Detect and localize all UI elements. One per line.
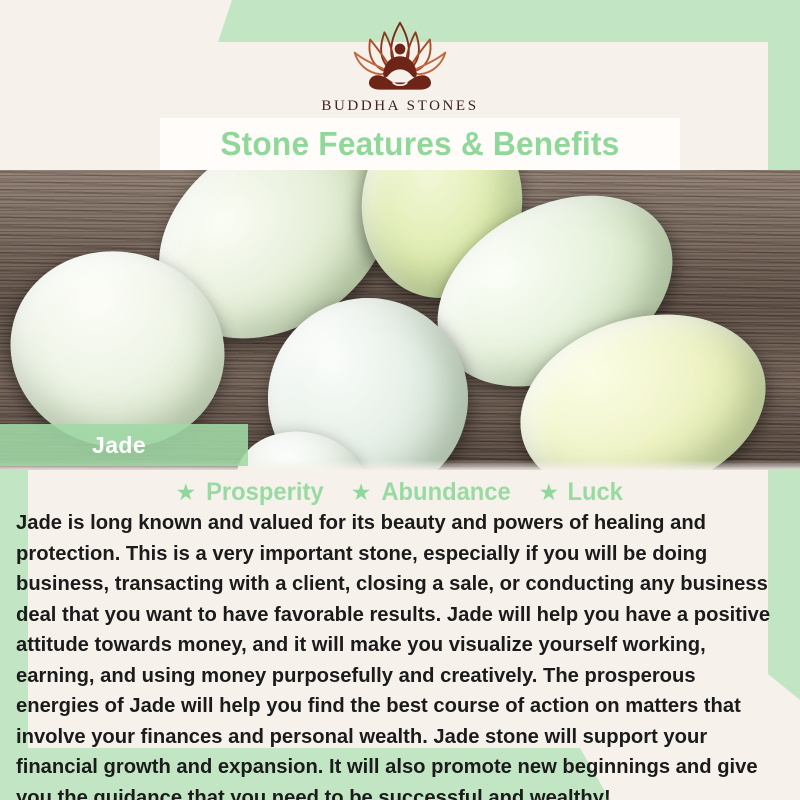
description-text: Jade is long known and valued for its be… <box>16 508 772 800</box>
description-block: Jade is long known and valued for its be… <box>16 508 784 800</box>
star-icon: ★ <box>539 481 560 504</box>
stone-name: Jade <box>92 432 146 459</box>
benefit-label: Abundance <box>382 478 511 507</box>
benefit-label: Prosperity <box>206 478 323 507</box>
logo-lockup: BUDDHA STONES <box>0 18 800 115</box>
star-icon: ★ <box>351 481 372 504</box>
stone-name-badge: Jade <box>0 424 248 466</box>
benefit-item-prosperity: ★ Prosperity <box>175 478 326 507</box>
page-title-band: Stone Features & Benefits <box>160 118 680 170</box>
infographic-card: BUDDHA STONES Stone Features & Benefits … <box>0 0 800 800</box>
lotus-meditation-icon <box>340 18 460 92</box>
page-title: Stone Features & Benefits <box>220 125 619 163</box>
benefit-label: Luck <box>568 478 623 507</box>
benefit-item-abundance: ★ Abundance <box>351 478 515 507</box>
benefits-row: ★ Prosperity ★ Abundance ★ Luck <box>0 478 800 507</box>
star-icon: ★ <box>175 481 196 504</box>
brand-name: BUDDHA STONES <box>321 98 478 115</box>
benefit-item-luck: ★ Luck <box>539 478 625 507</box>
